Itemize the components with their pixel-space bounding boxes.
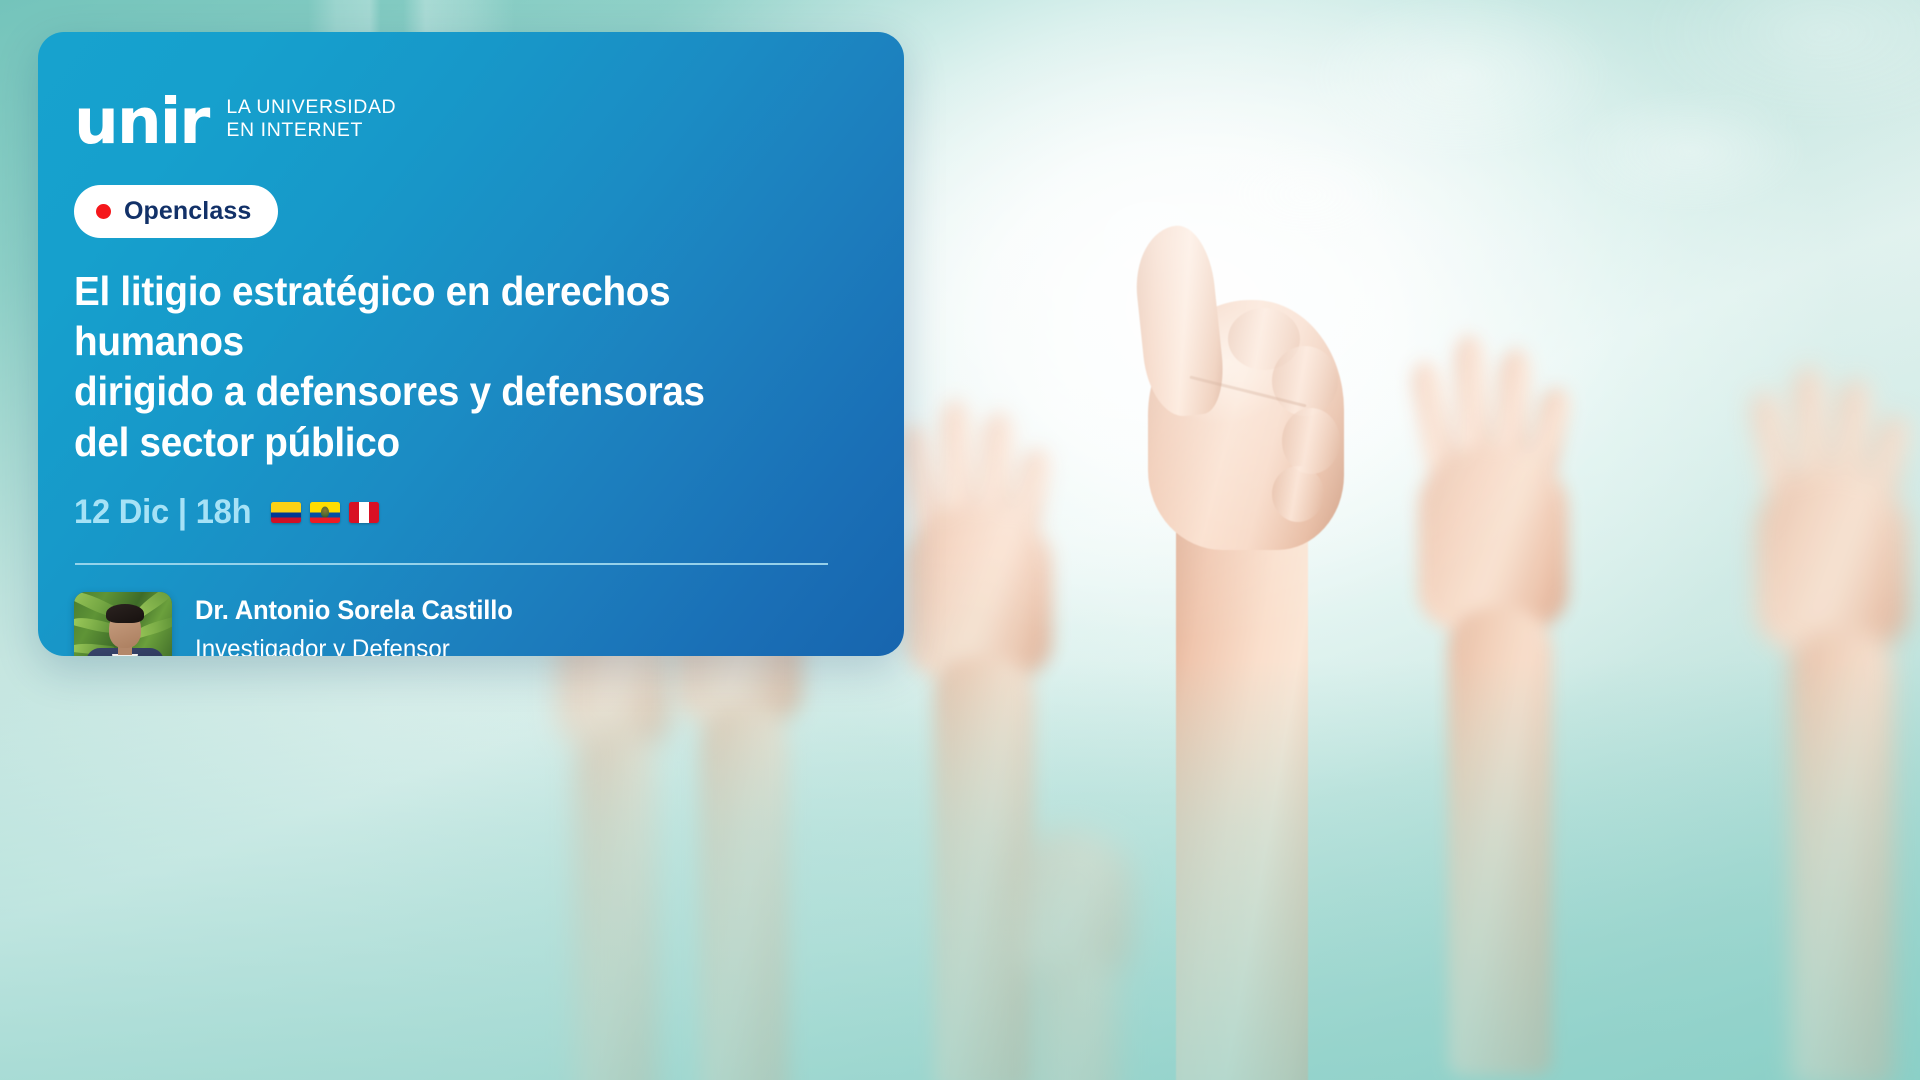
unir-wordmark: unir: [74, 96, 208, 148]
colombia-flag: [271, 502, 301, 523]
unir-logo: unir LA UNIVERSIDAD EN INTERNET: [74, 96, 864, 148]
speaker-name: Dr. Antonio Sorela Castillo: [195, 595, 513, 626]
info-card: unir LA UNIVERSIDAD EN INTERNET Openclas…: [38, 32, 904, 656]
unir-tagline-line2: EN INTERNET: [226, 119, 396, 142]
ecuador-flag: [310, 502, 340, 523]
event-date-time: 12 Dic | 18h: [74, 493, 251, 532]
unir-tagline: LA UNIVERSIDAD EN INTERNET: [226, 96, 396, 148]
speaker-role: Investigador y Defensor de DDHH, profeso…: [195, 632, 513, 656]
speaker-block: Dr. Antonio Sorela Castillo Investigador…: [74, 592, 864, 656]
card-divider: [75, 563, 828, 565]
promo-banner: unir LA UNIVERSIDAD EN INTERNET Openclas…: [0, 0, 1920, 1080]
unir-tagline-line1: LA UNIVERSIDAD: [226, 96, 396, 119]
openclass-badge: Openclass: [74, 185, 278, 238]
peru-flag: [349, 502, 379, 523]
live-dot-icon: [96, 204, 111, 219]
speaker-avatar: [74, 592, 172, 656]
event-headline: El litigio estratégico en derechos human…: [74, 266, 828, 467]
country-flags: [271, 502, 379, 523]
event-date-row: 12 Dic | 18h: [74, 493, 864, 532]
background-bottom-shade: [0, 660, 1920, 1080]
speaker-details: Dr. Antonio Sorela Castillo Investigador…: [195, 592, 524, 656]
openclass-badge-label: Openclass: [124, 197, 251, 226]
